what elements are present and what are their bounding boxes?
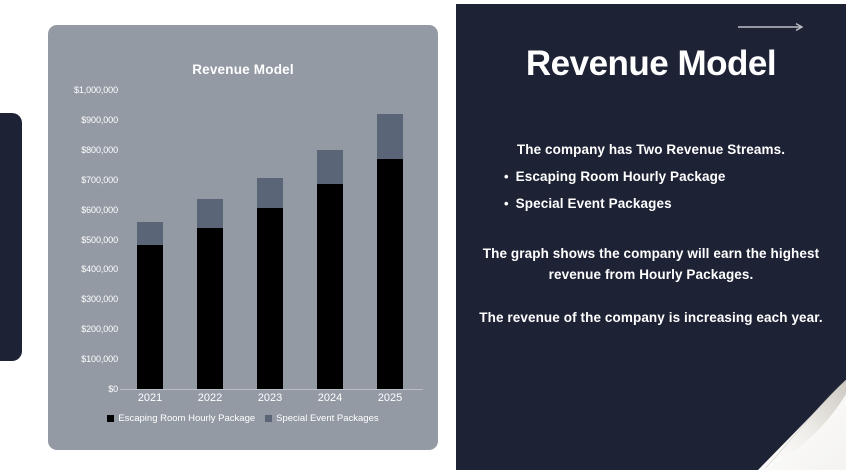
y-axis-tick-label: $800,000 (81, 145, 118, 155)
info-slide-intro-block: The company has Two Revenue Streams. • E… (474, 142, 828, 211)
slide-heading: Revenue Model (456, 44, 846, 84)
list-item-label: Escaping Room Hourly Package (516, 169, 726, 184)
y-axis-tick-label: $0 (108, 384, 118, 394)
chart-x-axis: 20212022202320242025 (120, 392, 420, 410)
arrow-right-icon (738, 22, 806, 32)
previous-slide-edge[interactable] (0, 113, 22, 361)
y-axis-tick-label: $300,000 (81, 294, 118, 304)
bar-segment-special-event[interactable] (377, 114, 403, 159)
y-axis-tick-label: $100,000 (81, 354, 118, 364)
x-axis-tick-label: 2021 (138, 392, 162, 404)
y-axis-tick-label: $400,000 (81, 264, 118, 274)
page-curl-icon (754, 350, 846, 470)
legend-item-label: Escaping Room Hourly Package (118, 413, 255, 424)
paragraph-graph-insight: The graph shows the company will earn th… (476, 244, 826, 286)
bullet-icon: • (504, 197, 509, 210)
legend-swatch-icon (265, 415, 272, 422)
bar-segment-special-event[interactable] (197, 199, 223, 227)
intro-line: The company has Two Revenue Streams. (474, 142, 828, 157)
chart-axis-line (120, 389, 423, 390)
chart-plot-area (120, 90, 420, 389)
chart-bar-group[interactable] (317, 150, 343, 389)
bar-segment-hourly-package[interactable] (257, 208, 283, 389)
paragraph-revenue-growth: The revenue of the company is increasing… (476, 308, 826, 329)
bar-segment-special-event[interactable] (257, 178, 283, 208)
bar-segment-hourly-package[interactable] (137, 245, 163, 389)
list-item: • Special Event Packages (474, 196, 828, 211)
chart-bar-group[interactable] (377, 114, 403, 389)
bar-segment-hourly-package[interactable] (317, 184, 343, 389)
y-axis-tick-label: $200,000 (81, 324, 118, 334)
legend-item[interactable]: Special Event Packages (265, 413, 378, 424)
legend-item-label: Special Event Packages (276, 413, 378, 424)
chart-y-axis: $1,000,000$900,000$800,000$700,000$600,0… (48, 90, 118, 389)
chart-legend: Escaping Room Hourly PackageSpecial Even… (48, 413, 438, 424)
bar-segment-hourly-package[interactable] (197, 228, 223, 389)
bar-segment-hourly-package[interactable] (377, 159, 403, 389)
y-axis-tick-label: $1,000,000 (74, 85, 118, 95)
x-axis-tick-label: 2022 (198, 392, 222, 404)
info-slide-body-block: The graph shows the company will earn th… (476, 244, 826, 329)
y-axis-tick-label: $900,000 (81, 115, 118, 125)
x-axis-tick-label: 2023 (258, 392, 282, 404)
legend-item[interactable]: Escaping Room Hourly Package (107, 413, 255, 424)
x-axis-tick-label: 2024 (318, 392, 342, 404)
chart-title: Revenue Model (48, 62, 438, 77)
info-slide[interactable]: Revenue Model The company has Two Revenu… (456, 4, 846, 470)
bullet-icon: • (504, 170, 509, 183)
slide-canvas: Revenue Model $1,000,000$900,000$800,000… (0, 0, 850, 475)
list-item-label: Special Event Packages (516, 196, 672, 211)
bar-segment-special-event[interactable] (317, 150, 343, 184)
chart-bar-group[interactable] (197, 199, 223, 389)
x-axis-tick-label: 2025 (378, 392, 402, 404)
revenue-chart-card[interactable]: Revenue Model $1,000,000$900,000$800,000… (48, 25, 438, 450)
list-item: • Escaping Room Hourly Package (474, 169, 828, 184)
y-axis-tick-label: $500,000 (81, 235, 118, 245)
legend-swatch-icon (107, 415, 114, 422)
chart-bar-group[interactable] (137, 222, 163, 389)
bar-segment-special-event[interactable] (137, 222, 163, 246)
y-axis-tick-label: $600,000 (81, 205, 118, 215)
chart-bar-group[interactable] (257, 178, 283, 389)
y-axis-tick-label: $700,000 (81, 175, 118, 185)
